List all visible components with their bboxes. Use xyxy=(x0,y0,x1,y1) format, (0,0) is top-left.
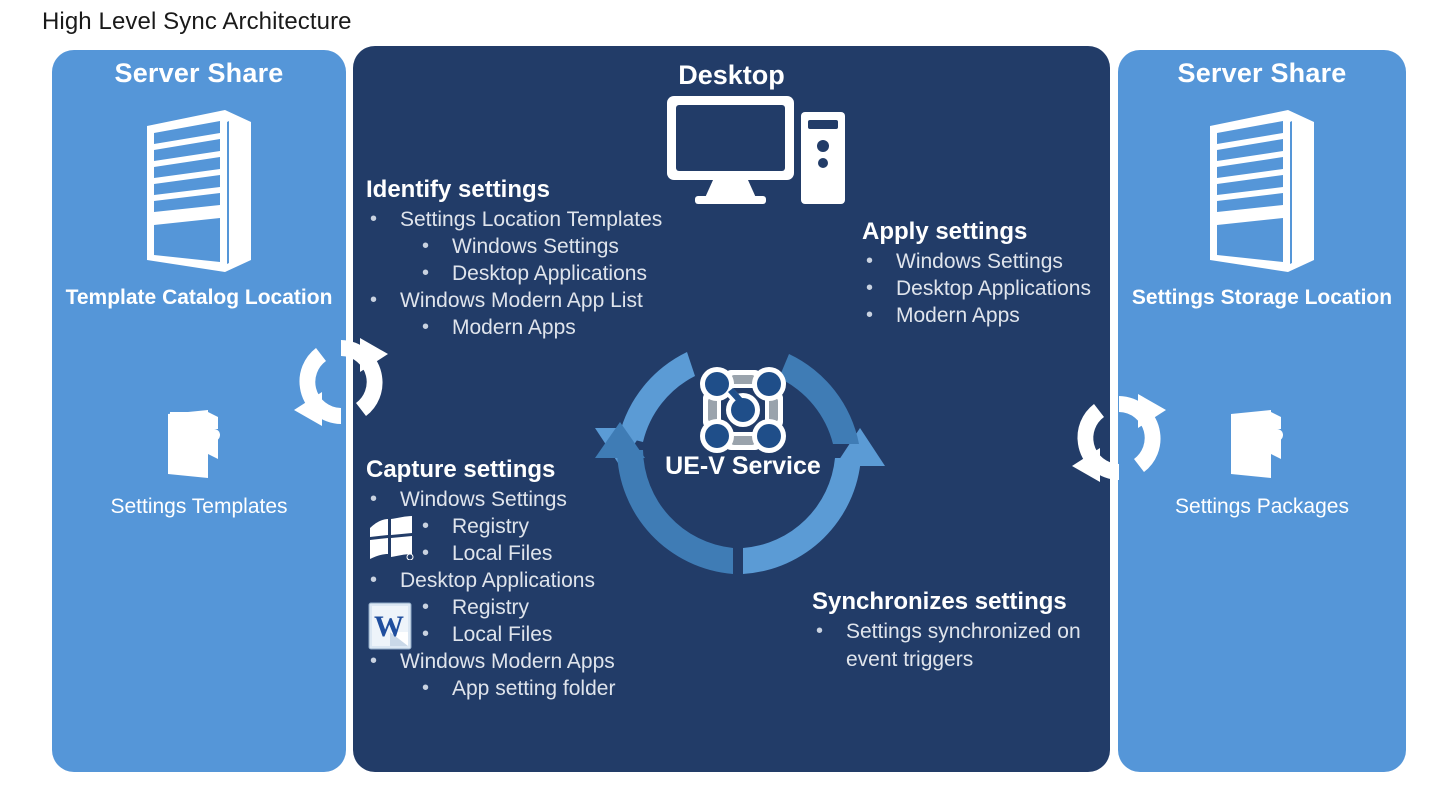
synchronizes-settings-list: Settings synchronized on xyxy=(812,618,1081,645)
page-title: High Level Sync Architecture xyxy=(42,8,352,36)
panel-center-heading: Desktop xyxy=(353,60,1110,91)
list-item: Desktop Applications xyxy=(366,567,615,594)
left-templates-caption: Settings Templates xyxy=(52,495,346,519)
desktop-computer-block xyxy=(667,96,845,211)
synchronizes-settings-block: Synchronizes settings Settings synchroni… xyxy=(812,588,1081,674)
sync-refresh-icon-left-wrap xyxy=(286,332,396,437)
microsoft-word-icon: W xyxy=(368,602,412,650)
right-packages-caption: Settings Packages xyxy=(1118,495,1406,519)
list-item: Settings synchronized on xyxy=(812,618,1081,645)
identify-settings-heading: Identify settings xyxy=(366,176,662,204)
folder-icon xyxy=(164,408,234,484)
capture-settings-heading: Capture settings xyxy=(366,456,615,484)
list-item: Desktop Applications xyxy=(862,275,1091,302)
list-item: Windows Settings xyxy=(366,486,615,513)
panel-right-heading: Server Share xyxy=(1118,58,1406,89)
list-item: Settings Location Templates xyxy=(366,206,662,233)
uev-service-label: UE-V Service xyxy=(583,452,903,481)
list-item: Modern Apps xyxy=(862,302,1091,329)
left-server-caption: Template Catalog Location xyxy=(52,286,346,310)
diagram-canvas: High Level Sync Architecture Server Shar… xyxy=(0,0,1436,805)
right-server-block: Settings Storage Location xyxy=(1118,100,1406,310)
list-item: App setting folder xyxy=(366,675,615,702)
list-item: Desktop Applications xyxy=(366,260,662,287)
list-item: Windows Modern Apps xyxy=(366,648,615,675)
windows-logo-icon xyxy=(368,516,414,560)
list-item: Windows Settings xyxy=(366,233,662,260)
desktop-computer-icon xyxy=(667,96,845,206)
capture-settings-block: Capture settings Windows Settings Regist… xyxy=(366,456,615,702)
apply-settings-list: Windows Settings Desktop Applications Mo… xyxy=(862,248,1091,329)
sync-refresh-icon-right-wrap xyxy=(1064,388,1174,493)
list-item: Windows Settings xyxy=(862,248,1091,275)
left-server-block: Template Catalog Location xyxy=(52,100,346,310)
server-rack-icon xyxy=(139,100,259,275)
identify-settings-list: Settings Location Templates Windows Sett… xyxy=(366,206,662,341)
uev-network-logo-icon xyxy=(695,362,791,458)
sync-refresh-icon xyxy=(286,332,396,432)
sync-refresh-icon xyxy=(1064,388,1174,488)
list-item-continuation: event triggers xyxy=(812,645,1081,674)
identify-settings-block: Identify settings Settings Location Temp… xyxy=(366,176,662,341)
synchronizes-settings-heading: Synchronizes settings xyxy=(812,588,1081,616)
server-rack-icon xyxy=(1202,100,1322,275)
svg-text:W: W xyxy=(374,610,404,643)
folder-icon xyxy=(1227,408,1297,484)
apply-settings-heading: Apply settings xyxy=(862,218,1091,246)
panel-desktop-center: Desktop Identify settings xyxy=(353,46,1110,772)
right-server-caption: Settings Storage Location xyxy=(1118,286,1406,310)
apply-settings-block: Apply settings Windows Settings Desktop … xyxy=(862,218,1091,329)
list-item: Windows Modern App List xyxy=(366,287,662,314)
panel-left-heading: Server Share xyxy=(52,58,346,89)
uev-service-hub: UE-V Service xyxy=(583,332,903,582)
